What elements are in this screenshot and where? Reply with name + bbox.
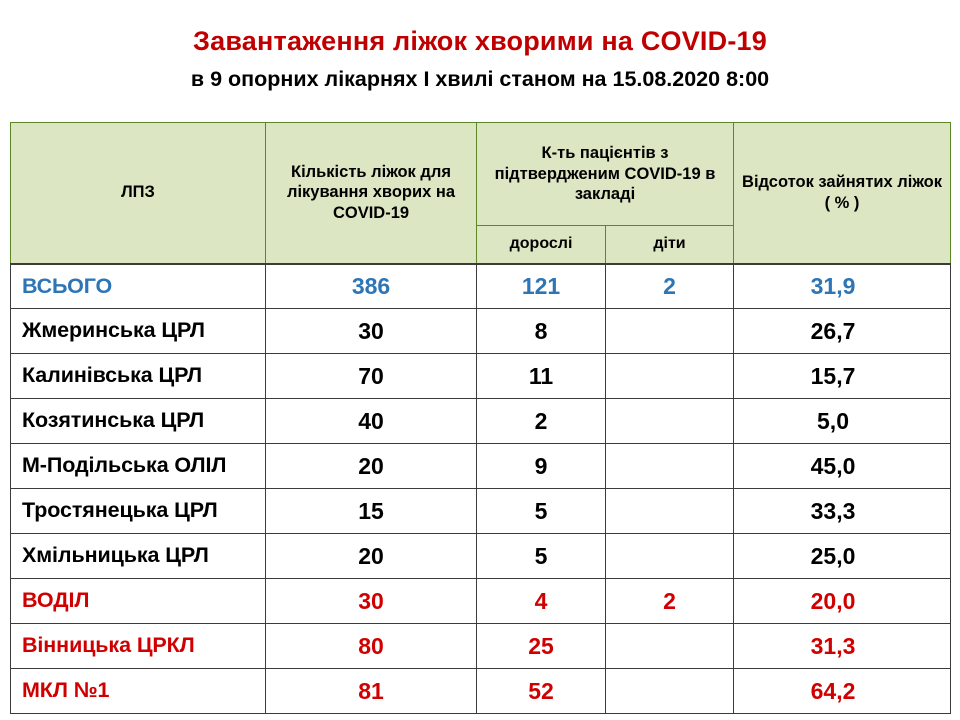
cell-adults-count: 11 xyxy=(477,354,606,399)
cell-adults-count: 4 xyxy=(477,579,606,624)
cell-beds-count: 81 xyxy=(266,669,477,714)
cell-occupancy-percent: 33,3 xyxy=(734,489,951,534)
cell-beds-count: 80 xyxy=(266,624,477,669)
cell-occupancy-percent: 5,0 xyxy=(734,399,951,444)
table-row: Жмеринська ЦРЛ30826,7 xyxy=(11,309,951,354)
column-header-adults: дорослі xyxy=(477,226,606,264)
bed-occupancy-table: ЛПЗ Кількість ліжок для лікування хворих… xyxy=(10,122,951,714)
cell-occupancy-percent: 20,0 xyxy=(734,579,951,624)
table-row: Вінницька ЦРКЛ802531,3 xyxy=(11,624,951,669)
cell-occupancy-percent: 26,7 xyxy=(734,309,951,354)
cell-occupancy-percent: 45,0 xyxy=(734,444,951,489)
cell-beds-count: 40 xyxy=(266,399,477,444)
table-body: ВСЬОГО386121231,9Жмеринська ЦРЛ30826,7Ка… xyxy=(11,264,951,714)
bed-occupancy-table-container: ЛПЗ Кількість ліжок для лікування хворих… xyxy=(10,122,950,714)
cell-children-count xyxy=(606,444,734,489)
cell-facility-name: Хмільницька ЦРЛ xyxy=(11,534,266,579)
column-header-patients-group: К-ть пацієнтів з підтвердженим COVID-19 … xyxy=(477,123,734,226)
cell-beds-count: 70 xyxy=(266,354,477,399)
cell-facility-name: МКЛ №1 xyxy=(11,669,266,714)
table-row: Калинівська ЦРЛ701115,7 xyxy=(11,354,951,399)
cell-occupancy-percent: 64,2 xyxy=(734,669,951,714)
cell-facility-name: Калинівська ЦРЛ xyxy=(11,354,266,399)
table-row: М-Подільська ОЛІЛ20945,0 xyxy=(11,444,951,489)
title-block: Завантаження ліжок хворими на COVID-19 в… xyxy=(0,0,960,93)
cell-children-count: 2 xyxy=(606,264,734,309)
cell-facility-name: Жмеринська ЦРЛ xyxy=(11,309,266,354)
cell-beds-count: 30 xyxy=(266,309,477,354)
table-row: ВСЬОГО386121231,9 xyxy=(11,264,951,309)
cell-facility-name: ВОДІЛ xyxy=(11,579,266,624)
column-header-beds: Кількість ліжок для лікування хворих на … xyxy=(266,123,477,264)
cell-adults-count: 9 xyxy=(477,444,606,489)
table-row: МКЛ №1815264,2 xyxy=(11,669,951,714)
cell-children-count xyxy=(606,534,734,579)
cell-children-count: 2 xyxy=(606,579,734,624)
cell-beds-count: 20 xyxy=(266,444,477,489)
column-header-children: діти xyxy=(606,226,734,264)
column-header-lpz: ЛПЗ xyxy=(11,123,266,264)
page-subtitle: в 9 опорних лікарнях І хвилі станом на 1… xyxy=(0,67,960,93)
cell-adults-count: 5 xyxy=(477,489,606,534)
cell-children-count xyxy=(606,354,734,399)
cell-facility-name: Козятинська ЦРЛ xyxy=(11,399,266,444)
cell-occupancy-percent: 15,7 xyxy=(734,354,951,399)
cell-occupancy-percent: 31,9 xyxy=(734,264,951,309)
cell-beds-count: 20 xyxy=(266,534,477,579)
cell-children-count xyxy=(606,669,734,714)
table-row: Тростянецька ЦРЛ15533,3 xyxy=(11,489,951,534)
table-row: ВОДІЛ304220,0 xyxy=(11,579,951,624)
cell-adults-count: 2 xyxy=(477,399,606,444)
cell-adults-count: 8 xyxy=(477,309,606,354)
header-row-primary: ЛПЗ Кількість ліжок для лікування хворих… xyxy=(11,123,951,226)
cell-facility-name: Тростянецька ЦРЛ xyxy=(11,489,266,534)
cell-occupancy-percent: 31,3 xyxy=(734,624,951,669)
page-title: Завантаження ліжок хворими на COVID-19 xyxy=(0,26,960,58)
cell-adults-count: 25 xyxy=(477,624,606,669)
table-row: Хмільницька ЦРЛ20525,0 xyxy=(11,534,951,579)
cell-adults-count: 121 xyxy=(477,264,606,309)
table-row: Козятинська ЦРЛ4025,0 xyxy=(11,399,951,444)
cell-beds-count: 30 xyxy=(266,579,477,624)
cell-children-count xyxy=(606,624,734,669)
cell-facility-name: Вінницька ЦРКЛ xyxy=(11,624,266,669)
cell-beds-count: 15 xyxy=(266,489,477,534)
cell-adults-count: 5 xyxy=(477,534,606,579)
cell-children-count xyxy=(606,489,734,534)
cell-adults-count: 52 xyxy=(477,669,606,714)
table-header: ЛПЗ Кількість ліжок для лікування хворих… xyxy=(11,123,951,264)
cell-beds-count: 386 xyxy=(266,264,477,309)
column-header-percent: Відсоток зайнятих ліжок ( % ) xyxy=(734,123,951,264)
cell-facility-name: ВСЬОГО xyxy=(11,264,266,309)
cell-children-count xyxy=(606,399,734,444)
cell-children-count xyxy=(606,309,734,354)
cell-facility-name: М-Подільська ОЛІЛ xyxy=(11,444,266,489)
cell-occupancy-percent: 25,0 xyxy=(734,534,951,579)
